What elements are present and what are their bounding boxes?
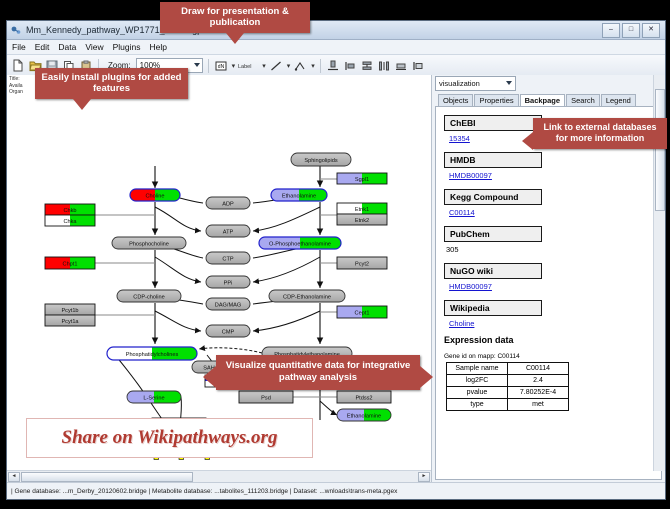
menu-item-edit[interactable]: Edit [35, 42, 50, 52]
pathway-info-header: Title: Availa Organ [9, 76, 23, 96]
backpage-label-kegg: Kegg Compound [444, 189, 542, 205]
svg-text:O-Phosphoethanolamine: O-Phosphoethanolamine [269, 242, 331, 248]
gene-node[interactable]: Psd [239, 391, 293, 403]
cell-value: C00114 [508, 363, 569, 375]
label-tool[interactable]: Label [238, 58, 258, 73]
menu-item-file[interactable]: File [12, 42, 26, 52]
svg-text:Choline: Choline [146, 194, 165, 200]
cell-value: met [508, 399, 569, 411]
gene-node[interactable]: Cept1 [337, 306, 387, 318]
metabolite-node[interactable]: Ethanolamine [271, 189, 327, 201]
callout-arrow-left-icon [522, 132, 533, 150]
interaction-icon[interactable] [293, 58, 307, 73]
info-line-organism: Organ [9, 89, 23, 96]
backpage-content: ChEBI 15354 HMDB HMDB00097 Kegg Compound… [435, 106, 662, 480]
datanode-icon[interactable]: dN [214, 58, 228, 73]
menu-item-plugins[interactable]: Plugins [113, 42, 141, 52]
svg-text:Pcyt1b: Pcyt1b [61, 308, 78, 314]
table-row: type met [447, 399, 569, 411]
svg-text:DAG/MAG: DAG/MAG [215, 303, 241, 309]
callout-visualize-text: Visualize quantitative data for integrat… [226, 360, 411, 383]
cell-value: 2.4 [508, 375, 569, 387]
callout-arrow-down-icon [73, 99, 91, 110]
backpage-label-chebi: ChEBI [444, 115, 542, 131]
menu-item-help[interactable]: Help [150, 42, 167, 52]
svg-text:Psd: Psd [261, 396, 271, 402]
svg-text:Sgpl1: Sgpl1 [355, 177, 369, 183]
callout-draw: Draw for presentation & publication [160, 2, 310, 33]
svg-text:CMP: CMP [222, 330, 235, 336]
metabolite-node[interactable]: O-Phosphoethanolamine [259, 237, 341, 249]
backpage-label-wikipedia: Wikipedia [444, 300, 542, 316]
menu-item-data[interactable]: Data [58, 42, 76, 52]
gene-node[interactable]: Sgpl1 [337, 173, 387, 184]
metabolite-node[interactable]: CDP-choline [117, 290, 181, 302]
gene-node[interactable]: Ptdss2 [337, 391, 391, 403]
callout-arrow-down-icon [226, 33, 244, 44]
backpage-label-hmdb: HMDB [444, 152, 542, 168]
chevron-down-icon[interactable]: ▾ [311, 62, 315, 70]
svg-text:Pcyt2: Pcyt2 [355, 262, 369, 268]
gene-node[interactable]: Pcyt1b [45, 304, 95, 315]
visualization-value: visualization [439, 79, 480, 88]
svg-text:Phosphatidylcholines: Phosphatidylcholines [126, 352, 179, 358]
metabolite-node[interactable]: ADP [206, 197, 250, 209]
gene-node[interactable]: Pcyt2 [337, 257, 387, 269]
distribute-icon[interactable] [377, 58, 391, 73]
chevron-down-icon [506, 81, 512, 85]
menu-item-view[interactable]: View [85, 42, 103, 52]
new-file-icon[interactable] [11, 58, 25, 73]
metabolite-node[interactable]: Choline [130, 189, 180, 201]
svg-text:Label: Label [238, 64, 251, 70]
tab-properties[interactable]: Properties [474, 94, 518, 106]
callout-share-text: Share on Wikipathways.org [62, 427, 278, 449]
metabolite-node[interactable]: L-Serine [127, 391, 181, 403]
metabolite-node[interactable]: CTP [206, 252, 250, 264]
chevron-down-icon[interactable]: ▾ [287, 62, 291, 70]
cell-key: type [447, 399, 508, 411]
callout-plugins-text: Easily install plugins for added feature… [42, 72, 182, 94]
align-left-icon[interactable] [343, 58, 357, 73]
gene-node[interactable]: Chkb [45, 204, 95, 215]
metabolite-node[interactable]: CDP-Ethanolamine [269, 290, 345, 302]
svg-text:dN: dN [217, 64, 224, 70]
maximize-button[interactable]: □ [622, 23, 640, 38]
table-row: Sample name C00114 [447, 363, 569, 375]
vscroll-thumb[interactable] [655, 89, 665, 211]
align-bottom-icon[interactable] [326, 58, 340, 73]
svg-text:Ethanolamine: Ethanolamine [282, 194, 316, 200]
callout-visualize: Visualize quantitative data for integrat… [216, 355, 420, 390]
backpage-label-pubchem: PubChem [444, 226, 542, 242]
status-text: | Gene database: ...m_Derby_20120602.bri… [11, 488, 397, 495]
side-panel-tabs: Objects Properties Backpage Search Legen… [432, 92, 665, 106]
svg-text:ADP: ADP [222, 202, 234, 208]
cell-value: 7.80252E-4 [508, 387, 569, 399]
svg-text:Cept1: Cept1 [355, 311, 370, 317]
toolbar-separator [320, 59, 321, 73]
tab-search[interactable]: Search [566, 94, 600, 106]
toolbar-separator [208, 59, 209, 73]
metabolite-node[interactable]: Phosphatidylcholines [107, 347, 197, 360]
svg-text:CDP-choline: CDP-choline [133, 295, 164, 301]
backpage-link-nugo[interactable]: HMDB00097 [449, 282, 661, 291]
svg-text:CTP: CTP [222, 257, 233, 263]
svg-text:L-Serine: L-Serine [143, 396, 164, 402]
backpage-link-wikipedia[interactable]: Choline [449, 319, 661, 328]
svg-text:Ptdss2: Ptdss2 [355, 396, 372, 402]
tab-objects[interactable]: Objects [438, 94, 473, 106]
expression-table: Sample name C00114 log2FC 2.4 pvalue 7.8… [446, 362, 569, 411]
line-icon[interactable] [269, 58, 283, 73]
hscroll-thumb[interactable] [21, 472, 193, 482]
scroll-right-button[interactable]: ► [418, 472, 430, 482]
title-bar: Mm_Kennedy_pathway_WP1771_45176.gpml – □… [7, 21, 665, 40]
svg-text:Sphingolipids: Sphingolipids [304, 158, 337, 164]
visualization-row: visualization [432, 75, 665, 92]
metabolite-node[interactable]: ATP [206, 225, 250, 237]
cell-key: log2FC [447, 375, 508, 387]
svg-text:Chpt1: Chpt1 [63, 262, 78, 268]
callout-arrow-right-icon [420, 366, 433, 388]
svg-text:Etnk1: Etnk1 [355, 207, 369, 213]
metabolite-node[interactable]: PPi [206, 276, 250, 288]
screenshot-root: Mm_Kennedy_pathway_WP1771_45176.gpml – □… [0, 0, 670, 509]
status-bar: | Gene database: ...m_Derby_20120602.bri… [7, 482, 665, 499]
close-button[interactable]: ✕ [642, 23, 660, 38]
backpage-link-hmdb[interactable]: HMDB00097 [449, 171, 661, 180]
stack-vertical-icon[interactable] [360, 58, 374, 73]
gene-node[interactable]: Chka [45, 215, 95, 226]
svg-text:Chkb: Chkb [63, 208, 76, 214]
scroll-left-button[interactable]: ◄ [8, 472, 20, 482]
menu-bar: File Edit Data View Plugins Help [7, 40, 665, 55]
svg-text:Phosphocholine: Phosphocholine [129, 242, 169, 248]
svg-text:Pcyt1a: Pcyt1a [61, 319, 79, 325]
common-width-icon[interactable] [394, 58, 408, 73]
callout-links-text: Link to external databases for more info… [543, 122, 656, 143]
svg-text:CDP-Ethanolamine: CDP-Ethanolamine [283, 295, 331, 301]
callout-share: Share on Wikipathways.org [26, 418, 313, 458]
callout-links: Link to external databases for more info… [533, 118, 667, 149]
chevron-down-icon[interactable]: ▾ [232, 62, 236, 70]
svg-text:Etnk2: Etnk2 [355, 218, 369, 224]
svg-text:Chka: Chka [63, 219, 77, 225]
gene-node[interactable]: Etnk2 [337, 214, 387, 225]
tab-legend[interactable]: Legend [601, 94, 636, 106]
window-controls: – □ ✕ [602, 23, 662, 38]
svg-text:Ethanolamine: Ethanolamine [347, 414, 381, 420]
app-icon [10, 24, 22, 36]
callout-arrow-left-icon [203, 366, 216, 388]
minimize-button[interactable]: – [602, 23, 620, 38]
table-row: pvalue 7.80252E-4 [447, 387, 569, 399]
callout-plugins: Easily install plugins for added feature… [35, 68, 188, 99]
chevron-down-icon [194, 63, 200, 67]
gene-node[interactable]: Pcyt1a [45, 315, 95, 326]
cell-key: pvalue [447, 387, 508, 399]
expression-data-heading: Expression data [444, 335, 661, 345]
svg-text:ATP: ATP [223, 230, 234, 236]
metabolite-node[interactable]: DAG/MAG [206, 298, 250, 310]
visualization-select[interactable]: visualization [435, 76, 516, 91]
backpage-value-pubchem: 305 [446, 245, 661, 254]
metabolite-node[interactable]: CMP [206, 325, 250, 337]
cell-key: Sample name [447, 363, 508, 375]
metabolite-node[interactable]: Sphingolipids [291, 153, 351, 166]
callout-draw-text: Draw for presentation & publication [181, 6, 289, 28]
gene-node[interactable]: Etnk1 [337, 203, 387, 214]
backpage-link-kegg[interactable]: C00114 [449, 208, 661, 217]
canvas-hscrollbar[interactable]: ◄ ► [7, 470, 431, 482]
metabolite-node[interactable]: Ethanolamine [337, 409, 391, 421]
metabolite-node[interactable]: Phosphocholine [112, 237, 186, 249]
gene-node[interactable]: Chpt1 [45, 257, 95, 269]
table-row: log2FC 2.4 [447, 375, 569, 387]
bring-to-front-icon[interactable] [411, 58, 425, 73]
backpage-label-nugo: NuGO wiki [444, 263, 542, 279]
svg-text:PPi: PPi [224, 281, 233, 287]
chevron-down-icon[interactable]: ▾ [262, 62, 266, 70]
gene-id-line: Gene id on mapp: C00114 [444, 353, 661, 360]
